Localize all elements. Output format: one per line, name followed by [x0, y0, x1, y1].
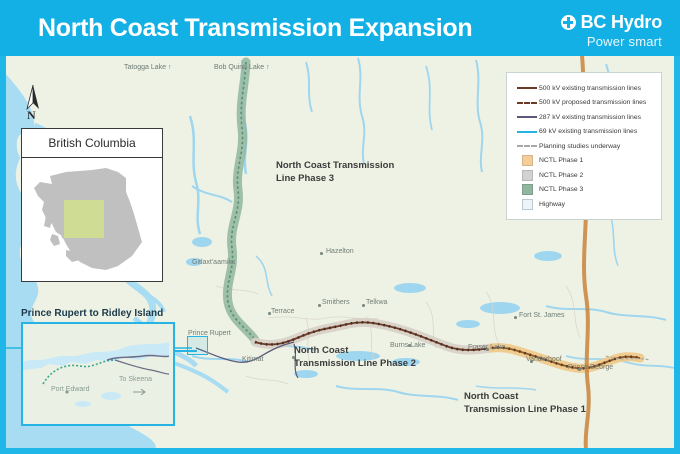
place-dot-kitimat	[292, 356, 295, 359]
legend-label: 500 kV existing transmission lines	[539, 85, 641, 92]
place-dot-hazelton	[320, 252, 323, 255]
legend-item-287kv-existing: 287 kV existing transmission lines	[515, 110, 653, 125]
north-arrow-label: N	[27, 108, 36, 123]
color-swatch	[515, 155, 539, 166]
inset-label-port-edward: Port Edward	[51, 386, 90, 393]
phase-3-label-line2: Line Phase 3	[276, 172, 394, 185]
color-swatch	[515, 184, 539, 195]
bc-hydro-circle-icon	[561, 15, 576, 30]
legend-item-highway: Highway	[515, 197, 653, 212]
legend-item-500kv-proposed: 500 kV proposed transmission lines	[515, 96, 653, 111]
legend-label: Highway	[539, 201, 565, 208]
solid-line-swatch	[515, 87, 539, 89]
inset-connector-line	[173, 350, 197, 352]
inset-prince-rupert: Prince Rupert to Ridley Island	[21, 308, 173, 428]
place-label-terrace: Terrace	[271, 308, 294, 315]
inset-british-columbia: British Columbia	[21, 128, 163, 282]
inset-label-to-skeena: To Skeena	[119, 376, 152, 383]
place-label-prince-george: Prince George	[568, 364, 613, 371]
place-dot-telkwa	[362, 304, 365, 307]
page-header: North Coast Transmission Expansion BC Hy…	[0, 0, 680, 56]
place-dot-fort-st-james	[514, 316, 517, 319]
place-label-fort-st-james: Fort St. James	[519, 312, 565, 319]
legend-label: 69 kV existing transmission lines	[539, 128, 637, 135]
place-label-smithers: Smithers	[322, 299, 350, 306]
dashed-line-swatch	[515, 102, 539, 104]
page-title: North Coast Transmission Expansion	[38, 14, 472, 43]
map-legend: 500 kV existing transmission lines 500 k…	[506, 72, 662, 220]
legend-label: NCTL Phase 3	[539, 186, 583, 193]
legend-item-500kv-existing: 500 kV existing transmission lines	[515, 81, 653, 96]
legend-label: Planning studies underway	[539, 143, 620, 150]
phase-3-label: North Coast Transmission Line Phase 3	[276, 159, 394, 185]
prince-rupert-callout-box	[187, 336, 208, 355]
phase-1-label-line2: Transmission Line Phase 1	[464, 403, 586, 416]
place-label-kitimat: Kitimat	[242, 356, 263, 363]
legend-label: NCTL Phase 2	[539, 172, 583, 179]
legend-item-nctl-phase-3: NCTL Phase 3	[515, 183, 653, 198]
inset-pr-basemap	[23, 324, 169, 420]
place-label-burns-lake: Burns Lake	[390, 342, 425, 349]
bc-province-shape	[22, 158, 160, 279]
place-label-gitlaxtaamiks: Gitlaxt'aamiks	[192, 259, 235, 266]
legend-item-nctl-phase-2: NCTL Phase 2	[515, 168, 653, 183]
bc-hydro-logo: BC Hydro Power smart	[561, 12, 662, 49]
logo-tagline: Power smart	[561, 34, 662, 49]
legend-label: 500 kV proposed transmission lines	[539, 99, 646, 106]
solid-line-swatch	[515, 116, 539, 118]
phase-2-label-line2: Transmission Line Phase 2	[294, 357, 416, 370]
dashed-line-swatch	[515, 145, 539, 147]
place-label-hazelton: Hazelton	[326, 248, 354, 255]
highway-swatch	[515, 199, 539, 210]
phase-1-label: North Coast Transmission Line Phase 1	[464, 390, 586, 416]
phase-1-label-line1: North Coast	[464, 390, 586, 403]
place-label-telkwa: Telkwa	[366, 299, 387, 306]
map-screenshot: North Coast Transmission Expansion BC Hy…	[0, 0, 680, 454]
logo-wordmark: BC Hydro	[581, 12, 662, 33]
inset-pr-title: Prince Rupert to Ridley Island	[21, 308, 173, 319]
north-arrow-icon: N	[22, 84, 44, 126]
main-map[interactable]: Tatogga Lake ↑ Bob Quinn Lake ↑ North Co…	[6, 56, 674, 448]
right-arrow-icon	[133, 388, 149, 396]
legend-label: 287 kV existing transmission lines	[539, 114, 641, 121]
phase-3-label-line1: North Coast Transmission	[276, 159, 394, 172]
label-bob-quinn-lake: Bob Quinn Lake ↑	[214, 64, 270, 71]
legend-label: NCTL Phase 1	[539, 157, 583, 164]
color-swatch	[515, 170, 539, 181]
legend-item-nctl-phase-1: NCTL Phase 1	[515, 154, 653, 169]
legend-item-69kv-existing: 69 kV existing transmission lines	[515, 125, 653, 140]
label-tatogga-lake: Tatogga Lake ↑	[124, 64, 171, 71]
inset-bc-title: British Columbia	[22, 129, 162, 158]
place-label-vanderhoof: Vanderhoof	[526, 356, 562, 363]
place-label-fraser-lake: Fraser Lake	[468, 344, 505, 351]
legend-item-planning-studies: Planning studies underway	[515, 139, 653, 154]
place-dot-smithers	[318, 304, 321, 307]
solid-line-swatch	[515, 131, 539, 133]
